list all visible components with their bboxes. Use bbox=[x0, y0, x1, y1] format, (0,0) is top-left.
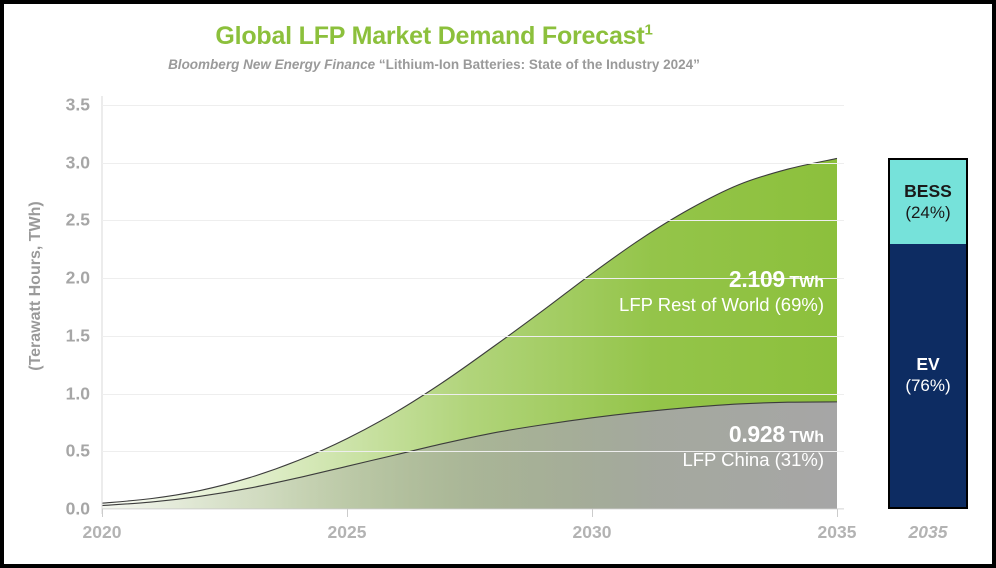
label-row-value: 2.109 bbox=[729, 266, 785, 292]
label-row-unit: TWh bbox=[789, 274, 824, 291]
label-row-name: LFP Rest of World (69%) bbox=[524, 294, 824, 316]
y-axis-ticks: 0.00.51.01.52.02.53.03.5 bbox=[26, 4, 90, 564]
gridline bbox=[102, 220, 844, 221]
chart-subtitle: Bloomberg New Energy Finance “Lithium-Io… bbox=[4, 57, 864, 72]
gridline bbox=[102, 105, 844, 106]
ev-percent: (76%) bbox=[905, 376, 950, 396]
x-tick-mark bbox=[102, 509, 103, 517]
y-tick-label: 1.0 bbox=[36, 383, 90, 404]
chart-title-text: Global LFP Market Demand Forecast bbox=[215, 22, 644, 50]
composition-bar-2035: BESS (24%) EV (76%) bbox=[888, 158, 968, 509]
bar-year-label: 2035 bbox=[888, 522, 968, 543]
label-china-unit: TWh bbox=[789, 429, 824, 446]
bess-percent: (24%) bbox=[905, 203, 950, 223]
ev-label: EV bbox=[916, 354, 939, 375]
title-footnote-marker: 1 bbox=[645, 22, 653, 39]
subtitle-source: Bloomberg New Energy Finance bbox=[168, 57, 375, 72]
y-tick-label: 0.5 bbox=[36, 441, 90, 462]
x-tick-label: 2035 bbox=[818, 522, 857, 543]
bar-segment-ev: EV (76%) bbox=[890, 244, 966, 507]
label-china-name: LFP China (31%) bbox=[524, 449, 824, 471]
x-tick-mark bbox=[347, 509, 348, 517]
bess-label: BESS bbox=[904, 181, 952, 202]
gridline bbox=[102, 394, 844, 395]
x-tick-label: 2025 bbox=[328, 522, 367, 543]
x-tick-label: 2030 bbox=[573, 522, 612, 543]
chart-frame: Global LFP Market Demand Forecast1 Bloom… bbox=[4, 4, 992, 564]
label-china-value: 0.928 bbox=[729, 421, 785, 447]
label-rest-of-world: 2.109 TWh LFP Rest of World (69%) bbox=[524, 266, 824, 316]
y-tick-label: 0.0 bbox=[36, 499, 90, 520]
gridline bbox=[102, 509, 844, 510]
y-tick-label: 2.5 bbox=[36, 210, 90, 231]
y-tick-label: 1.5 bbox=[36, 325, 90, 346]
y-tick-label: 3.0 bbox=[36, 152, 90, 173]
gridline bbox=[102, 336, 844, 337]
chart-title: Global LFP Market Demand Forecast1 bbox=[4, 22, 864, 51]
subtitle-report-title: “Lithium-Ion Batteries: State of the Ind… bbox=[379, 57, 700, 72]
y-tick-label: 3.5 bbox=[36, 95, 90, 116]
y-tick-label: 2.0 bbox=[36, 268, 90, 289]
x-tick-label: 2020 bbox=[83, 522, 122, 543]
x-tick-mark bbox=[837, 509, 838, 517]
label-china: 0.928 TWh LFP China (31%) bbox=[524, 421, 824, 471]
gridline bbox=[102, 163, 844, 164]
bar-segment-bess: BESS (24%) bbox=[890, 160, 966, 243]
x-tick-mark bbox=[592, 509, 593, 517]
